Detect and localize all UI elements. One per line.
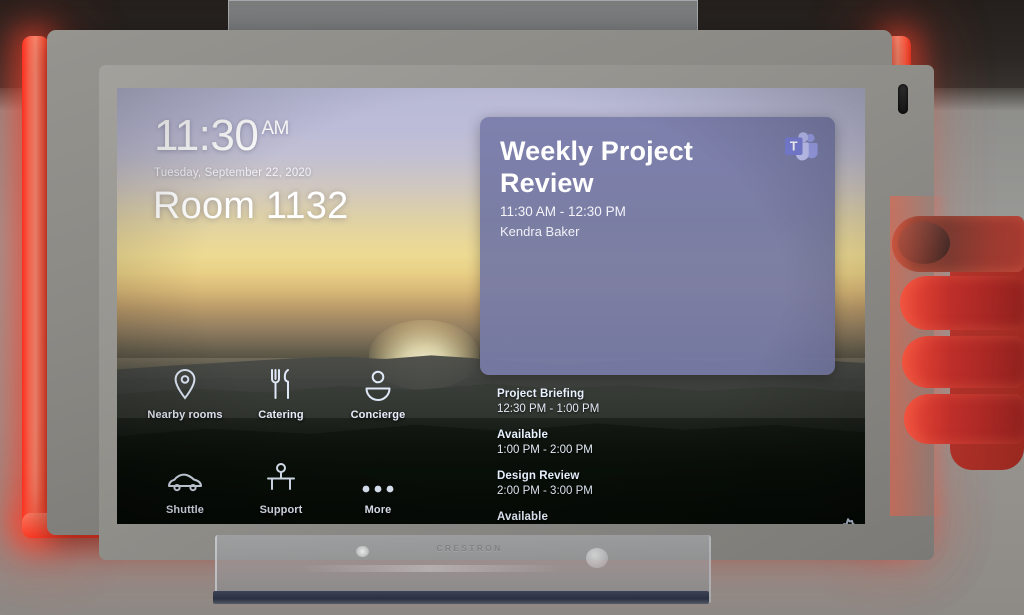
- quick-action-shuttle[interactable]: Shuttle: [137, 461, 233, 516]
- meeting-time: 11:30 AM - 12:30 PM: [500, 204, 626, 219]
- meeting-title: Weekly Project Review: [500, 136, 750, 200]
- agenda-item-time: 2:00 PM - 3:00 PM: [497, 485, 837, 497]
- more-dots-icon: [330, 461, 426, 495]
- quick-action-more[interactable]: More: [330, 461, 426, 516]
- list-item[interactable]: Design Review 2:00 PM - 3:00 PM: [497, 470, 837, 497]
- quick-action-label: Catering: [233, 409, 329, 421]
- crestron-room-scheduling-panel: CRESTRON 11:30AM Tuesday, September 22, …: [47, 30, 892, 535]
- led-status-bar-left: [22, 36, 49, 537]
- quick-action-concierge[interactable]: Concierge: [330, 366, 426, 421]
- agenda-item-name: Design Review: [497, 470, 837, 482]
- agenda-item-time: 1:00 PM - 2:00 PM: [497, 444, 837, 456]
- quick-action-nearby-rooms[interactable]: Nearby rooms: [137, 366, 233, 421]
- agenda-list[interactable]: Project Briefing 12:30 PM - 1:00 PM Avai…: [497, 388, 837, 524]
- quick-action-label: Support: [233, 504, 329, 516]
- quick-action-label: Concierge: [330, 409, 426, 421]
- agenda-item-name: Project Briefing: [497, 388, 837, 400]
- svg-text:T: T: [790, 139, 798, 153]
- quick-action-catering[interactable]: Catering: [233, 366, 329, 421]
- touch-screen[interactable]: 11:30AM Tuesday, September 22, 2020 Room…: [117, 88, 865, 524]
- quick-action-label: Shuttle: [137, 504, 233, 516]
- current-meeting-card[interactable]: Weekly Project Review 11:30 AM - 12:30 P…: [480, 117, 835, 375]
- agenda-item-name: Available: [497, 511, 837, 523]
- support-desk-icon: [233, 461, 329, 495]
- clock-date: Tuesday, September 22, 2020: [154, 167, 311, 179]
- gear-icon[interactable]: [837, 518, 859, 524]
- quick-action-label: More: [330, 504, 426, 516]
- stand-highlight: [300, 565, 560, 572]
- clock-time-value: 11:30: [154, 111, 258, 160]
- stand-reflection-left: [356, 546, 369, 557]
- car-icon: [137, 461, 233, 495]
- list-item[interactable]: Project Briefing 12:30 PM - 1:00 PM: [497, 388, 837, 415]
- concierge-person-icon: [330, 366, 426, 400]
- hand-led-glow: [890, 196, 950, 516]
- quick-action-label: Nearby rooms: [137, 409, 233, 421]
- user-hand: [890, 196, 1024, 516]
- room-name: Room 1132: [153, 185, 348, 228]
- clock-time: 11:30AM: [154, 114, 311, 158]
- clock-ampm: AM: [261, 118, 289, 139]
- quick-action-support[interactable]: Support: [233, 461, 329, 516]
- fork-knife-icon: [233, 366, 329, 400]
- ambient-light-sensor: [898, 84, 908, 114]
- stand-foot: [213, 591, 709, 604]
- scene: CRESTRON 11:30AM Tuesday, September 22, …: [0, 0, 1024, 615]
- meeting-organizer: Kendra Baker: [500, 224, 580, 239]
- stand-reflection-right: [586, 548, 608, 568]
- clock-block: 11:30AM Tuesday, September 22, 2020: [154, 114, 311, 179]
- agenda-item-time: 12:30 PM - 1:00 PM: [497, 403, 837, 415]
- map-pin-icon: [137, 366, 233, 400]
- microsoft-teams-icon: T: [784, 132, 818, 162]
- agenda-item-name: Available: [497, 429, 837, 441]
- list-item[interactable]: Available: [497, 511, 837, 523]
- list-item[interactable]: Available 1:00 PM - 2:00 PM: [497, 429, 837, 456]
